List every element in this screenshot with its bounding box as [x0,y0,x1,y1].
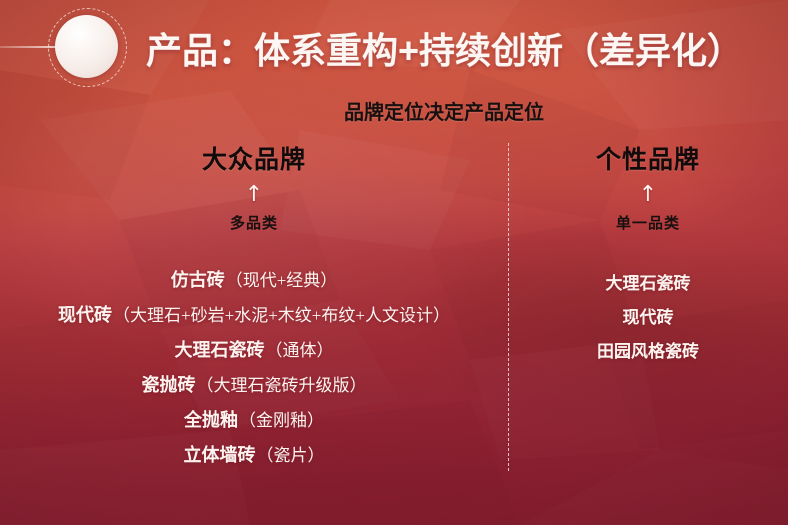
circle-bullet-icon [55,15,118,78]
list-item: 瓷抛砖（大理石瓷砖升级版） [0,368,508,403]
column-heading-right: 个性品牌 [508,140,788,176]
list-item: 立体墙砖（瓷片） [0,438,508,473]
product-name: 现代砖 [623,308,674,327]
list-item: 仿古砖（现代+经典） [0,263,508,298]
product-name: 全抛釉 [184,410,238,430]
list-item: 现代砖（大理石+砂岩+水泥+木纹+布纹+人文设计） [0,298,508,333]
page-title: 产品：体系重构+持续创新（差异化） [146,22,743,74]
list-item: 全抛釉（金刚釉） [0,403,508,438]
column-subtitle-left: 多品类 [0,212,508,233]
product-detail: （大理石瓷砖升级版） [197,376,367,395]
product-name: 大理石瓷砖 [175,340,265,360]
column-mass-brand: 大众品牌 ↑ 多品类 仿古砖（现代+经典） 现代砖（大理石+砂岩+水泥+木纹+布… [0,140,508,473]
list-item: 现代砖 [508,301,788,335]
arrow-up-icon-left: ↑ [0,184,508,206]
product-detail: （大理石+砂岩+水泥+木纹+布纹+人文设计） [113,306,450,325]
page-subtitle: 品牌定位决定产品定位 [0,96,788,125]
product-name: 瓷抛砖 [142,375,196,395]
product-name: 仿古砖 [171,270,225,290]
product-detail: （金刚釉） [239,411,324,430]
column-personal-brand: 个性品牌 ↑ 单一品类 大理石瓷砖 现代砖 田园风格瓷砖 [508,140,788,369]
product-detail: （瓷片） [257,446,325,465]
list-item: 大理石瓷砖（通体） [0,333,508,368]
column-subtitle-right: 单一品类 [508,212,788,233]
list-item: 田园风格瓷砖 [508,335,788,369]
product-name: 立体墙砖 [184,445,256,465]
product-name: 田园风格瓷砖 [597,342,699,361]
product-detail: （通体） [266,341,334,360]
slide-canvas: 产品：体系重构+持续创新（差异化） 品牌定位决定产品定位 大众品牌 ↑ 多品类 … [0,0,788,525]
arrow-up-icon-right: ↑ [508,184,788,206]
product-list-left: 仿古砖（现代+经典） 现代砖（大理石+砂岩+水泥+木纹+布纹+人文设计） 大理石… [0,263,508,473]
product-name: 大理石瓷砖 [606,274,691,293]
column-heading-left: 大众品牌 [0,140,508,176]
list-item: 大理石瓷砖 [508,267,788,301]
product-list-right: 大理石瓷砖 现代砖 田园风格瓷砖 [508,267,788,369]
product-name: 现代砖 [58,305,112,325]
product-detail: （现代+经典） [226,271,338,290]
header: 产品：体系重构+持续创新（差异化） 品牌定位决定产品定位 [0,0,788,132]
